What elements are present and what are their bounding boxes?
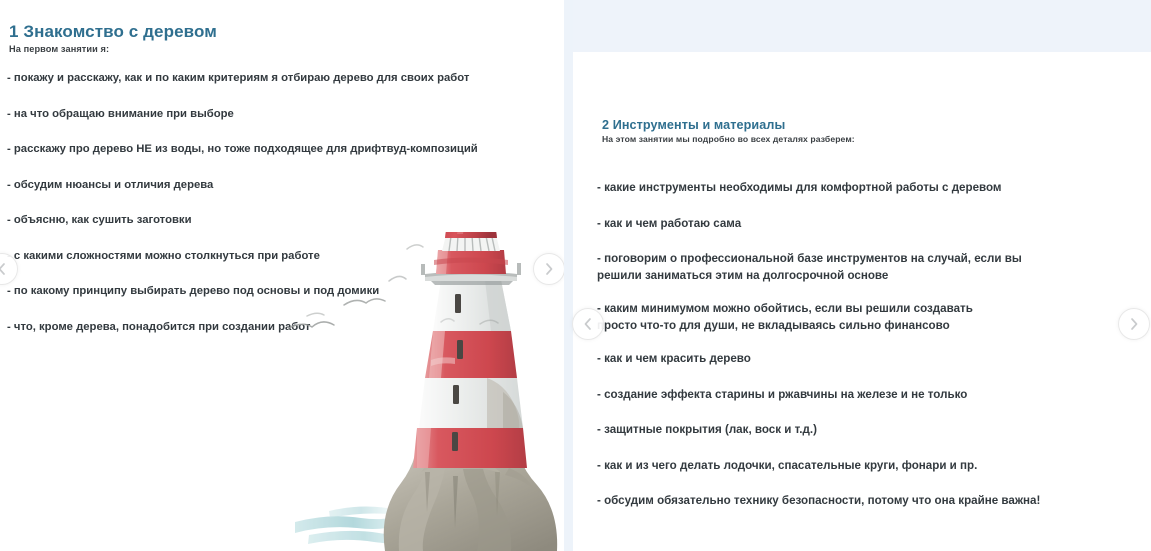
slide-card-1[interactable]: 1 Знакомство с деревом На первом занятии… (0, 0, 564, 551)
list-item: - как и из чего делать лодочки, спасател… (597, 458, 1137, 475)
list-item: - какие инструменты необходимы для комфо… (597, 180, 1137, 197)
slide-card-2[interactable]: 2 Инструменты и материалы На этом заняти… (573, 52, 1151, 551)
chevron-right-icon (542, 262, 556, 276)
list-item: - обсудим обязательно технику безопаснос… (597, 493, 1137, 510)
list-item: - обсудим нюансы и отличия дерева (7, 178, 559, 192)
tower-band-white-lower (419, 378, 523, 428)
slide-1-title: 1 Знакомство с деревом (9, 22, 217, 42)
slide-1-next-button[interactable] (533, 253, 564, 285)
slide-gutter (564, 0, 573, 551)
list-item: - поговорим о профессиональной базе инст… (597, 251, 1137, 284)
list-item: - как и чем красить дерево (597, 351, 1137, 368)
slide-1-bullet-list: - покажу и расскажу, как и по каким крит… (7, 71, 559, 355)
list-item: - покажу и расскажу, как и по каким крит… (7, 71, 559, 85)
slide-2-prev-button[interactable] (572, 308, 604, 340)
slide-1-header: 1 Знакомство с деревом На первом занятии… (9, 22, 217, 54)
list-item: - создание эффекта старины и ржавчины на… (597, 387, 1137, 404)
chevron-right-icon (1127, 317, 1141, 331)
slide-2-next-button[interactable] (1118, 308, 1150, 340)
slide-2-bullet-list: - какие инструменты необходимы для комфо… (597, 180, 1137, 529)
chevron-left-icon (0, 262, 9, 276)
list-item: - как и чем работаю сама (597, 216, 1137, 233)
list-item: - защитные покрытия (лак, воск и т.д.) (597, 422, 1137, 439)
water-strokes (295, 507, 410, 544)
slide-2-subtitle: На этом занятии мы подробно во всех дета… (602, 134, 855, 144)
chevron-left-icon (581, 317, 595, 331)
list-item: - объясню, как сушить заготовки (7, 213, 559, 227)
slide-1-subtitle: На первом занятии я: (9, 44, 217, 54)
list-item: - расскажу про дерево НЕ из воды, но тож… (7, 142, 559, 156)
slide-2-header: 2 Инструменты и материалы На этом заняти… (602, 118, 855, 144)
slide-2-title: 2 Инструменты и материалы (602, 118, 855, 132)
list-item: - по какому принципу выбирать дерево под… (7, 284, 559, 298)
list-item: - с какими сложностями можно столкнуться… (7, 249, 559, 263)
list-item: - на что обращаю внимание при выборе (7, 107, 559, 121)
slides-carousel-stage: 1 Знакомство с деревом На первом занятии… (0, 0, 1151, 551)
tower-band-red-lower (413, 428, 527, 468)
list-item: - каким минимумом можно обойтись, если в… (597, 301, 1137, 334)
list-item: - что, кроме дерева, понадобится при соз… (7, 320, 559, 334)
rock-base (384, 455, 557, 551)
